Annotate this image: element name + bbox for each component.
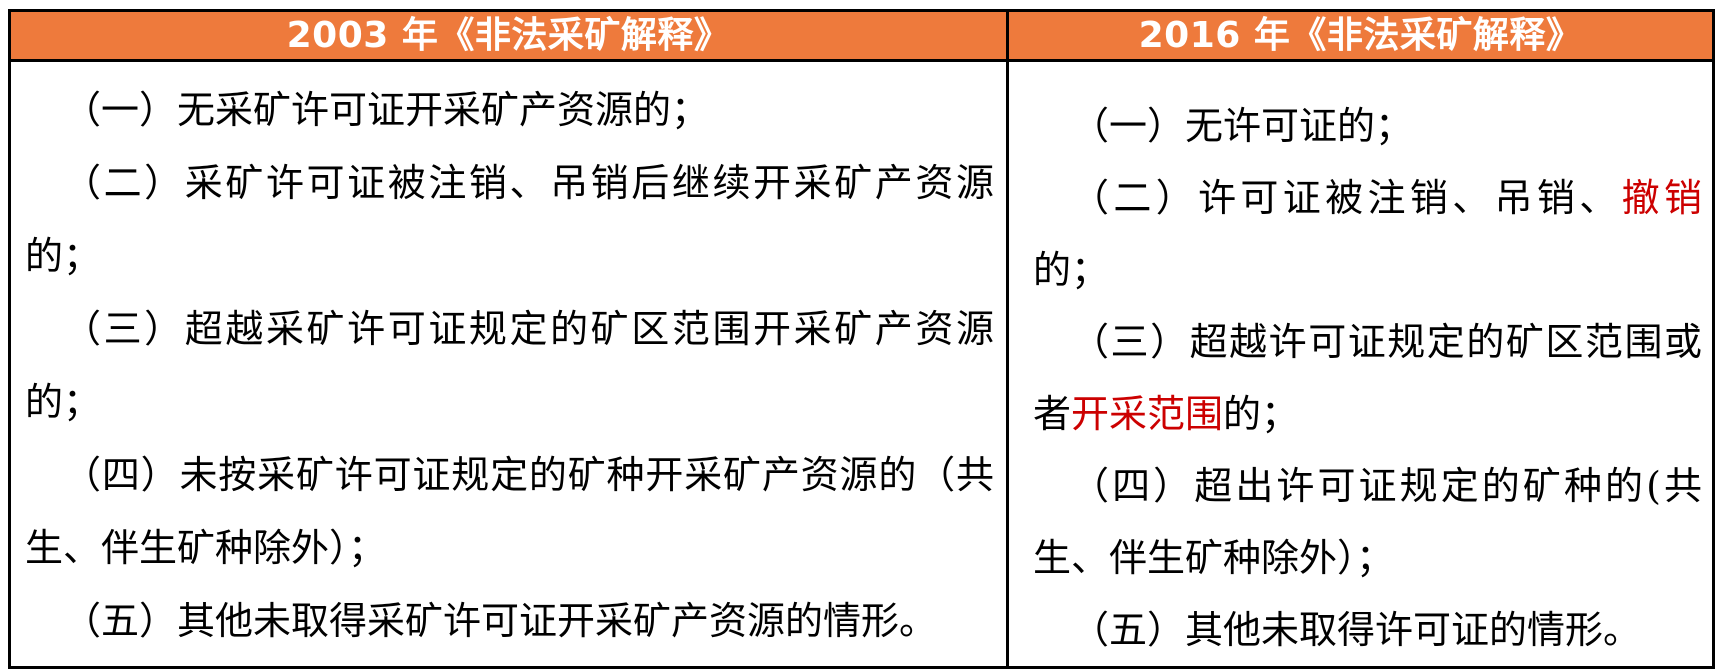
clause-item: （三）超越采矿许可证规定的矿区范围开采矿产资源的；	[25, 293, 994, 439]
clause-text: （五）其他未取得许可证的情形。	[1071, 608, 1641, 652]
body-cell-2016: （一）无许可证的； （二）许可证被注销、吊销、撤销的； （三）超越许可证规定的矿…	[1008, 61, 1714, 668]
header-label-2003: 2003 年《非法采矿解释》	[11, 13, 1006, 58]
header-label-2016: 2016 年《非法采矿解释》	[1009, 13, 1712, 58]
clause-item: （一）无采矿许可证开采矿产资源的；	[25, 74, 994, 147]
clause-item: （一）无许可证的；	[1033, 90, 1702, 162]
clause-list-2003: （一）无采矿许可证开采矿产资源的； （二）采矿许可证被注销、吊销后继续开采矿产资…	[11, 62, 1006, 658]
clause-item: （四）未按采矿许可证规定的矿种开采矿产资源的（共生、伴生矿种除外）；	[25, 439, 994, 585]
content-row: （一）无采矿许可证开采矿产资源的； （二）采矿许可证被注销、吊销后继续开采矿产资…	[10, 61, 1714, 668]
table-body: （一）无采矿许可证开采矿产资源的； （二）采矿许可证被注销、吊销后继续开采矿产资…	[10, 61, 1714, 668]
header-cell-2003: 2003 年《非法采矿解释》	[10, 11, 1008, 61]
clause-item: （二）采矿许可证被注销、吊销后继续开采矿产资源的；	[25, 147, 994, 293]
clause-text: （一）无许可证的；	[1071, 104, 1413, 148]
clause-list-2016: （一）无许可证的； （二）许可证被注销、吊销、撤销的； （三）超越许可证规定的矿…	[1009, 62, 1712, 666]
clause-text: 的；	[1033, 248, 1109, 292]
clause-item: （五）其他未取得许可证的情形。	[1033, 594, 1702, 666]
header-row: 2003 年《非法采矿解释》 2016 年《非法采矿解释》	[10, 11, 1714, 61]
comparison-table: 2003 年《非法采矿解释》 2016 年《非法采矿解释》 （一）无采矿许可证开…	[8, 9, 1715, 669]
clause-item: （二）许可证被注销、吊销、撤销的；	[1033, 162, 1702, 306]
clause-text: （四）超出许可证规定的矿种的(共生、伴生矿种除外）；	[1033, 464, 1702, 580]
table-header: 2003 年《非法采矿解释》 2016 年《非法采矿解释》	[10, 11, 1714, 61]
clause-item: （四）超出许可证规定的矿种的(共生、伴生矿种除外）；	[1033, 450, 1702, 594]
body-cell-2003: （一）无采矿许可证开采矿产资源的； （二）采矿许可证被注销、吊销后继续开采矿产资…	[10, 61, 1008, 668]
clause-item: （五）其他未取得采矿许可证开采矿产资源的情形。	[25, 585, 994, 658]
header-cell-2016: 2016 年《非法采矿解释》	[1008, 11, 1714, 61]
clause-text: 的；	[1223, 392, 1299, 436]
highlighted-term: 撤销	[1622, 176, 1702, 220]
document-page: 2003 年《非法采矿解释》 2016 年《非法采矿解释》 （一）无采矿许可证开…	[0, 0, 1724, 665]
highlighted-term: 开采范围	[1071, 392, 1223, 436]
clause-text: （二）许可证被注销、吊销、	[1071, 176, 1622, 220]
clause-item: （三）超越许可证规定的矿区范围或者开采范围的；	[1033, 306, 1702, 450]
